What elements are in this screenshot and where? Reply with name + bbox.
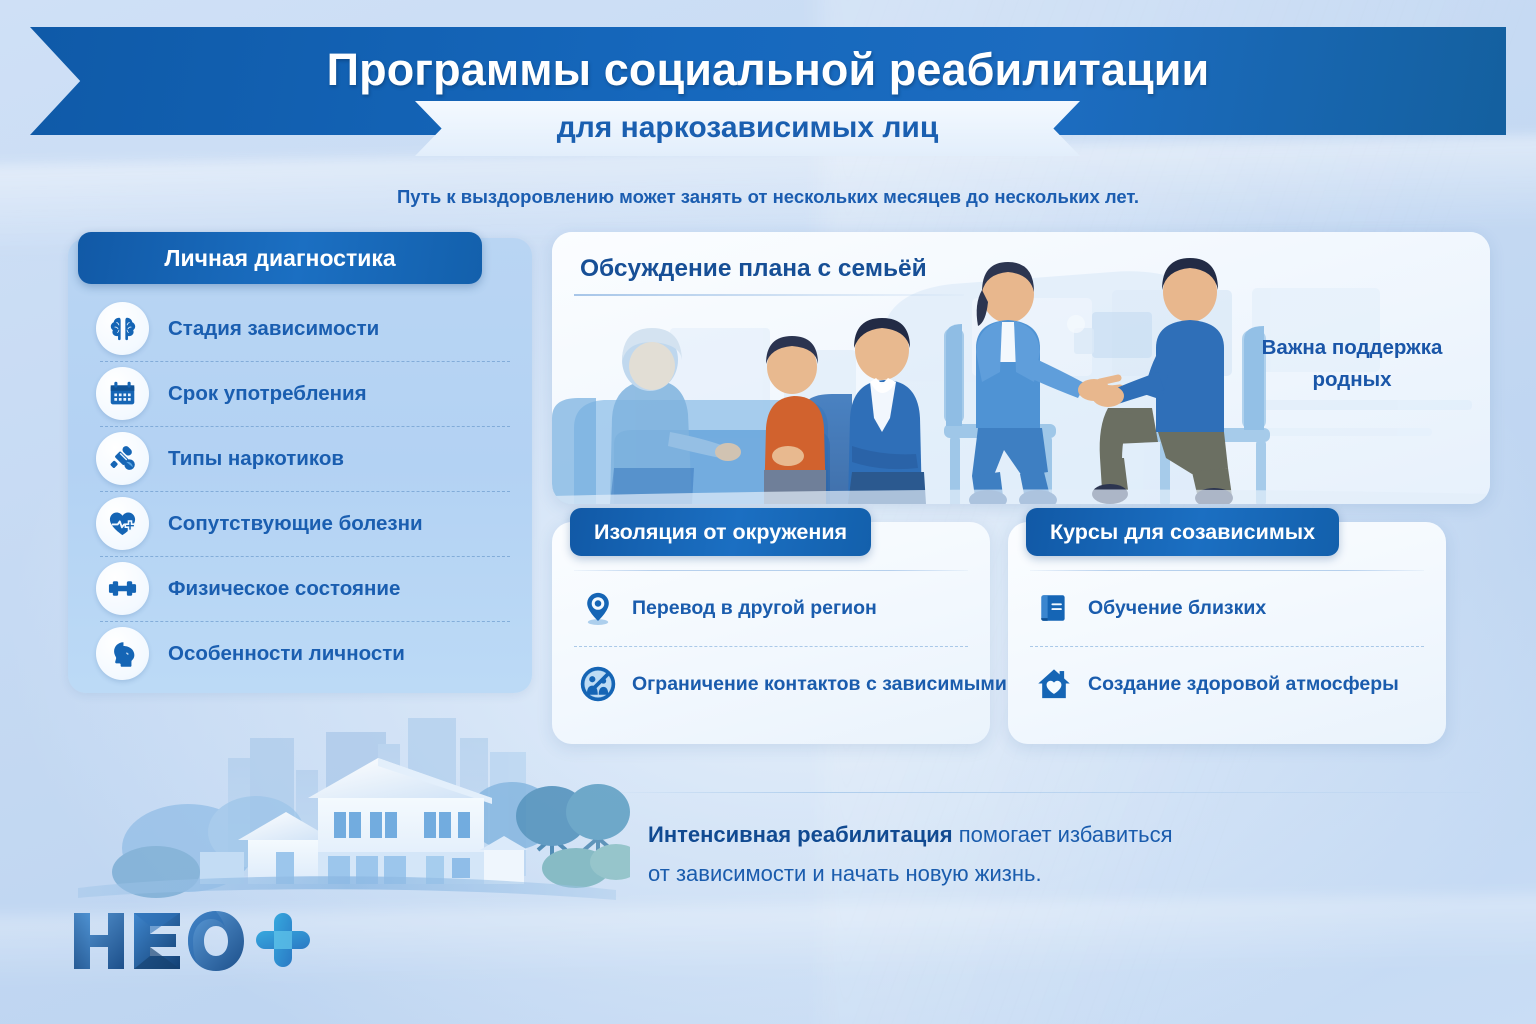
page-subtitle: для наркозависимых лиц (415, 111, 1080, 145)
list-item[interactable]: Особенности личности (68, 621, 532, 686)
list-item-label: Ограничение контактов с зависимыми (632, 673, 1007, 696)
infographic-poster: Программы социальной реабилитации для на… (0, 0, 1536, 1024)
title-underline (574, 294, 964, 296)
book-icon (1032, 586, 1076, 630)
list-item[interactable]: Срок употребления (68, 361, 532, 426)
codependent-courses-card: Курсы для созависимых Обучение б (1008, 522, 1446, 744)
calendar-icon (96, 367, 149, 420)
panel-header-personal-diagnostics: Личная диагностика (78, 232, 482, 284)
intro-text: Путь к выздоровлению может занять от нес… (0, 186, 1536, 208)
list-item-label: Создание здоровой атмосферы (1088, 673, 1399, 696)
footer-strong-text: Интенсивная реабилитация (648, 822, 953, 847)
no-people-prohibited-icon (576, 662, 620, 706)
brain-icon (96, 302, 149, 355)
location-pin-icon (576, 586, 620, 630)
footer-line-1: Интенсивная реабилитация помогает избави… (648, 815, 1348, 854)
list-item[interactable]: Сопутствующие болезни (68, 491, 532, 556)
list-item-label: Обучение близких (1088, 597, 1266, 620)
card-header-label: Изоляция от окружения (594, 520, 847, 545)
diagnostics-list: Стадия зависимости (68, 296, 532, 686)
list-item-label: Типы наркотиков (168, 447, 344, 471)
list-item-label: Стадия зависимости (168, 317, 379, 341)
support-callout-text: Важна поддержка родных (1236, 332, 1468, 396)
card-header-isolation: Изоляция от окружения (570, 508, 871, 556)
list-item[interactable]: Создание здоровой атмосферы (1008, 646, 1446, 722)
list-item-label: Физическое состояние (168, 577, 400, 601)
house-heart-icon (1032, 662, 1076, 706)
heart-medical-cross-icon (96, 497, 149, 550)
suburban-house-city-illustration (60, 700, 630, 915)
list-item[interactable]: Стадия зависимости (68, 296, 532, 361)
list-item[interactable]: Перевод в другой регион (552, 570, 990, 646)
subtitle-tab: для наркозависимых лиц (415, 101, 1080, 156)
footer-line-2: от зависимости и начать новую жизнь. (648, 854, 1348, 893)
card-header-label: Курсы для созависимых (1050, 520, 1315, 545)
syringe-pills-icon (96, 432, 149, 485)
neo-plus-logo: НЕО+ (66, 905, 316, 977)
footer-statement: Интенсивная реабилитация помогает избави… (648, 815, 1348, 893)
footer-divider (620, 792, 1480, 793)
list-item[interactable]: Физическое состояние (68, 556, 532, 621)
footer-rest-text: помогает избавиться (953, 822, 1173, 847)
page-title: Программы социальной реабилитации (30, 44, 1506, 96)
card-header-courses: Курсы для созависимых (1026, 508, 1339, 556)
courses-items-list: Обучение близких Создание здоровой атмос… (1008, 570, 1446, 722)
panel-header-label: Личная диагностика (164, 245, 395, 272)
isolation-card: Изоляция от окружения Перевод в другой р… (552, 522, 990, 744)
personal-diagnostics-panel: Личная диагностика Стадия зависимости (68, 238, 532, 693)
dumbbell-icon (96, 562, 149, 615)
card-title-family-discussion: Обсуждение плана с семьёй (580, 255, 927, 283)
list-item-label: Перевод в другой регион (632, 597, 877, 620)
list-item[interactable]: Ограничение контактов с зависимыми (552, 646, 990, 722)
head-profile-icon (96, 627, 149, 680)
family-discussion-card: Обсуждение плана с семьёй Важна поддержк… (552, 232, 1490, 504)
list-item[interactable]: Типы наркотиков (68, 426, 532, 491)
list-item-label: Срок употребления (168, 382, 367, 406)
isolation-items-list: Перевод в другой регион (552, 570, 990, 722)
list-item-label: Сопутствующие болезни (168, 512, 423, 536)
list-item-label: Особенности личности (168, 642, 405, 666)
list-item[interactable]: Обучение близких (1008, 570, 1446, 646)
